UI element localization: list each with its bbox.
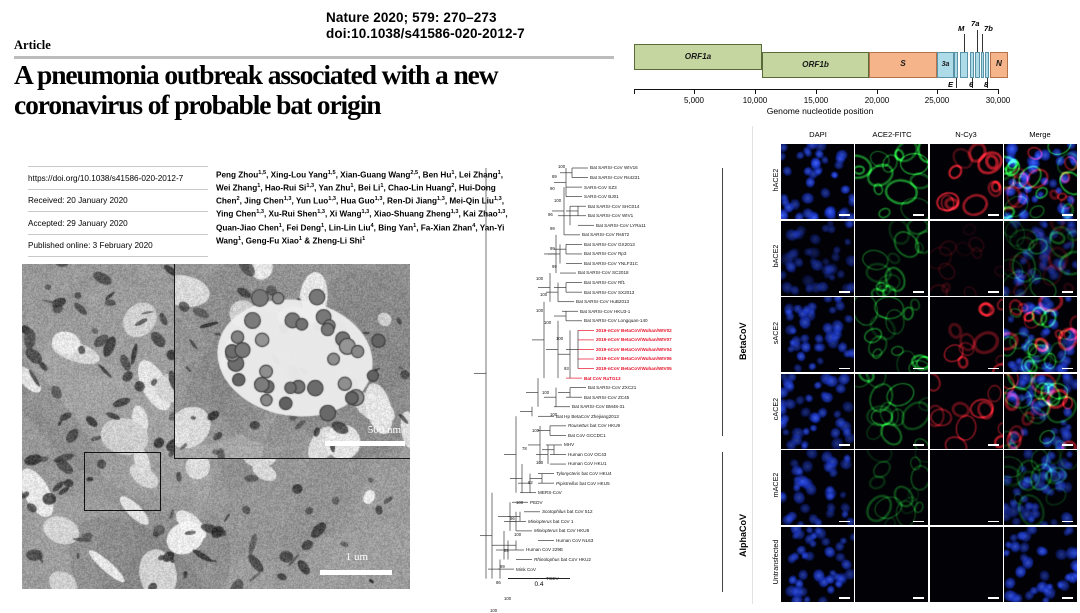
if-scalebar <box>913 368 924 370</box>
tree-bootstrap-value: 100 <box>554 198 561 203</box>
clade-bar-betacov <box>722 168 723 436</box>
tree-bootstrap-value: 100 <box>514 532 521 537</box>
if-image-cell <box>855 297 928 372</box>
if-scalebar <box>988 521 999 523</box>
tree-bootstrap-value: 99 <box>552 264 557 269</box>
tree-taxon-label: Bat SARSr-CoV SX2013 <box>584 290 634 295</box>
tree-bootstrap-value: 85 <box>504 548 509 553</box>
if-image-cell <box>855 450 928 525</box>
if-image-cell <box>1004 297 1077 372</box>
if-scalebar <box>988 291 999 293</box>
tree-bootstrap-value: 99 <box>550 246 555 251</box>
axis-tick <box>998 89 999 94</box>
phylogenetic-tree: Bat SARSr-CoV WIV16Bat SARSr-CoV Rs4231S… <box>470 160 750 605</box>
axis-tick <box>877 89 878 94</box>
gene-orf6 <box>970 52 974 78</box>
if-micrograph <box>1004 527 1077 602</box>
tree-bootstrap-value: 100 <box>536 460 543 465</box>
axis-tick <box>694 89 695 94</box>
gene-label-orf7a: 7a <box>971 19 979 28</box>
tree-bootstrap-value: 78 <box>522 446 527 451</box>
if-image-cell <box>1004 527 1077 602</box>
if-micrograph <box>855 374 928 449</box>
tree-bootstrap-value: 100 <box>550 412 557 417</box>
if-image-cell <box>855 144 928 219</box>
tree-taxon-label: Bat SARSr-CoV Rs672 <box>582 232 629 237</box>
tree-taxon-label: Mink CoV <box>516 567 536 572</box>
tree-taxon-label: 2019-nCoV BetaCoV/Wuhan/WIV05 <box>596 366 672 371</box>
if-image-cell <box>781 374 854 449</box>
metadata-published: Published online: 3 February 2020 <box>28 235 208 258</box>
if-scalebar <box>839 291 850 293</box>
if-column-header-merge: Merge <box>1003 130 1077 139</box>
gene-orf8 <box>985 52 989 78</box>
tree-taxon-label: Bat Hp BetaCoV Zhejiang2013 <box>556 414 619 419</box>
tree-bootstrap-value: 96 <box>548 212 553 217</box>
citation-line-1: Nature 2020; 579: 270–273 <box>326 10 525 26</box>
leader-line-7b <box>982 34 983 52</box>
tree-taxon-label: Bat SARSr-CoV ZC45 <box>584 395 629 400</box>
if-image-cell <box>1004 374 1077 449</box>
journal-citation: Nature 2020; 579: 270–273 doi:10.1038/s4… <box>326 10 525 42</box>
electron-micrograph: 500 nm 1 um <box>22 264 410 589</box>
if-scalebar <box>913 214 924 216</box>
if-micrograph <box>781 297 854 372</box>
gene-label-orf1a: ORF1a <box>634 53 762 61</box>
tree-taxon-label: Bat SARSr-CoV SHC014 <box>588 204 639 209</box>
if-scalebar <box>839 444 850 446</box>
if-scalebar <box>913 291 924 293</box>
if-image-cell <box>1004 450 1077 525</box>
if-scalebar <box>1062 444 1073 446</box>
immunofluorescence-panel: DAPI ACE2-FITC N-Cy3 Merge hACE2bACE2sAC… <box>752 126 1079 604</box>
tree-bootstrap-value: 89 <box>552 174 557 179</box>
tree-taxon-label: MHV <box>564 442 574 447</box>
gene-orf7a <box>975 52 980 78</box>
if-micrograph <box>781 374 854 449</box>
page-title: A pneumonia outbreak associated with a n… <box>14 60 614 120</box>
if-image-cell <box>781 221 854 296</box>
tree-taxon-label: SARS-CoV SZ3 <box>584 185 617 190</box>
if-image-cell <box>1004 221 1077 296</box>
clade-label-alphacov: AlphaCoV <box>738 514 748 557</box>
if-image-cell <box>930 527 1003 602</box>
tree-taxon-label: Miniopterus bat CoV HKU8 <box>534 528 589 533</box>
tree-taxon-label: Bat SARSr-CoV HKU3-1 <box>580 309 630 314</box>
if-row-label: sACE2 <box>771 297 780 369</box>
tree-bootstrap-value: 100 <box>490 608 497 613</box>
article-metadata: https://doi.org/10.1038/s41586-020-2012-… <box>28 166 208 257</box>
tree-scale-label: 0.4 <box>508 581 570 588</box>
genome-axis-caption: Genome nucleotide position <box>680 106 960 116</box>
leader-line-e <box>956 78 957 88</box>
tree-scale-bar <box>508 578 570 579</box>
if-column-header-dapi: DAPI <box>781 130 855 139</box>
if-row-label: bACE2 <box>771 220 780 292</box>
tree-taxon-label: 2019-nCoV BetaCoV/Wuhan/WIV06 <box>596 356 672 361</box>
tree-bootstrap-value: 93 <box>564 366 569 371</box>
if-scalebar <box>1062 597 1073 599</box>
tree-taxon-label: Rhinolophus bat CoV HKU2 <box>534 557 591 562</box>
tree-bootstrap-value: 100 <box>532 428 539 433</box>
tree-taxon-label: Bat SARSr-CoV WIV16 <box>590 165 638 170</box>
tree-bootstrap-value: 99 <box>500 564 505 569</box>
if-micrograph <box>1004 221 1077 296</box>
leader-line-7a <box>977 30 978 52</box>
leader-line-m <box>964 34 965 52</box>
tree-taxon-label: Pipistrellus bat CoV HKU5 <box>556 481 610 486</box>
if-scalebar <box>1062 521 1073 523</box>
tree-taxon-label: 2019-nCoV BetaCoV/Wuhan/WIV07 <box>596 337 672 342</box>
axis-tick-label: 10,000 <box>732 96 778 105</box>
if-micrograph <box>930 527 1003 602</box>
if-micrograph <box>855 450 928 525</box>
em-scalebar-label: 1 um <box>346 551 368 563</box>
axis-tick <box>937 89 938 94</box>
if-scalebar <box>988 368 999 370</box>
if-micrograph <box>930 297 1003 372</box>
tree-bootstrap-value: 90 <box>550 186 555 191</box>
tree-bootstrap-value: 100 <box>558 164 565 169</box>
if-image-cell <box>855 374 928 449</box>
gene-label-orf3a: 3a <box>937 61 954 68</box>
tree-taxon-label: 2019-nCoV BetaCoV/Wuhan/WIV04 <box>596 347 672 352</box>
citation-line-2: doi:10.1038/s41586-020-2012-7 <box>326 26 525 42</box>
if-micrograph <box>930 144 1003 219</box>
inset-scalebar-label: 500 nm <box>368 424 401 436</box>
if-micrograph <box>781 221 854 296</box>
tree-taxon-label: Bat SARSr-CoV Rs4231 <box>590 175 640 180</box>
tree-taxon-label: Bat SARSr-CoV Rp3 <box>584 251 626 256</box>
if-micrograph <box>930 374 1003 449</box>
if-row-label: mACE2 <box>771 449 780 521</box>
tree-taxon-label: Tylonycteris bat CoV HKU4 <box>556 471 612 476</box>
tree-taxon-label: Bat SARSr-CoV HuB2013 <box>576 299 629 304</box>
tree-taxon-label: 2019-nCoV BetaCoV/Wuhan/WIV02 <box>596 328 672 333</box>
if-scalebar <box>913 444 924 446</box>
gene-label-orf7b: 7b <box>984 24 993 33</box>
tree-bootstrap-value: 96 <box>510 516 515 521</box>
tree-bootstrap-value: 99 <box>550 226 555 231</box>
tree-taxon-label: Bat SARSr-CoV ZXC21 <box>588 385 636 390</box>
if-scalebar <box>1062 214 1073 216</box>
tree-taxon-label: Bat SARSr-CoV YNLF31C <box>584 261 638 266</box>
if-micrograph <box>855 221 928 296</box>
if-row-label: hACE2 <box>771 144 780 216</box>
if-column-header-n-cy3: N-Cy3 <box>929 130 1003 139</box>
gene-membrane <box>960 52 968 78</box>
axis-tick-label: 30,000 <box>975 96 1021 105</box>
metadata-received: Received: 20 January 2020 <box>28 190 208 213</box>
axis-tick-label: 20,000 <box>854 96 900 105</box>
tree-taxon-label: Rousettus bat CoV HKU9 <box>568 423 620 428</box>
axis-tick-label: 25,000 <box>914 96 960 105</box>
tree-taxon-label: Bat SARSr-CoV SC2018 <box>578 270 629 275</box>
metadata-accepted: Accepted: 29 January 2020 <box>28 212 208 235</box>
if-micrograph <box>930 221 1003 296</box>
inset-scalebar <box>325 441 405 446</box>
tree-taxon-label: Human CoV HKU1 <box>568 461 607 466</box>
genome-organization-diagram: ORF1a ORF1b S 3a N M 7a 7b E 6 8 5,000 1… <box>624 14 1076 114</box>
if-image-cell <box>781 144 854 219</box>
if-scalebar <box>913 521 924 523</box>
if-scalebar <box>839 521 850 523</box>
if-micrograph <box>930 450 1003 525</box>
if-micrograph <box>855 297 928 372</box>
if-image-cell <box>930 297 1003 372</box>
if-micrograph <box>1004 374 1077 449</box>
if-micrograph <box>1004 450 1077 525</box>
if-scalebar <box>1062 291 1073 293</box>
tree-bootstrap-value: 100 <box>544 320 551 325</box>
gene-label-orf1b: ORF1b <box>762 61 869 69</box>
if-micrograph <box>781 527 854 602</box>
tree-bootstrap-value: 100 <box>556 336 563 341</box>
clade-bar-alphacov <box>722 452 723 592</box>
axis-tick <box>816 89 817 94</box>
tree-taxon-label: Bat SARSr-CoV Rf1 <box>584 280 625 285</box>
tree-taxon-label: Bat SARSr-CoV BM48-31 <box>572 404 625 409</box>
tree-bootstrap-value: 100 <box>504 596 511 601</box>
clade-label-betacov: BetaCoV <box>738 322 748 360</box>
if-row-label: Untransfected <box>771 526 780 598</box>
tree-bootstrap-value: 92 <box>528 480 533 485</box>
if-scalebar <box>839 368 850 370</box>
if-image-cell <box>855 221 928 296</box>
tree-taxon-label: Bat SARSr-CoV GX2013 <box>584 242 635 247</box>
tree-bootstrap-value: 100 <box>536 308 543 313</box>
gene-envelope <box>954 52 958 78</box>
gene-label-membrane: M <box>958 24 964 33</box>
tree-bootstrap-value: 100 <box>542 390 549 395</box>
if-row-label: cACE2 <box>771 373 780 445</box>
if-micrograph <box>781 144 854 219</box>
if-column-headers: DAPI ACE2-FITC N-Cy3 Merge <box>781 130 1077 144</box>
if-scalebar <box>839 214 850 216</box>
if-scalebar <box>988 597 999 599</box>
tree-taxon-label: MERS-CoV <box>538 490 562 495</box>
if-scalebar <box>1062 368 1073 370</box>
em-region-of-interest-box <box>84 452 161 511</box>
if-micrograph <box>855 527 928 602</box>
if-micrograph <box>1004 297 1077 372</box>
if-image-cell <box>781 527 854 602</box>
tree-bootstrap-value: 100 <box>516 500 523 505</box>
gene-label-nucleocapsid: N <box>990 60 1008 68</box>
gene-label-envelope: E <box>948 80 953 89</box>
gene-label-orf6: 6 <box>969 80 973 89</box>
em-inset-panel: 500 nm <box>174 264 410 459</box>
tree-taxon-label: Bat CoV GCCDC1 <box>568 433 606 438</box>
if-scalebar <box>988 214 999 216</box>
if-image-cell <box>930 374 1003 449</box>
tree-taxon-label: Bat SARSr-CoV Longquan-140 <box>584 318 648 323</box>
if-image-grid <box>781 144 1077 602</box>
article-kicker: Article <box>14 38 51 53</box>
axis-tick-label: 5,000 <box>671 96 717 105</box>
if-image-cell <box>855 527 928 602</box>
if-image-cell <box>781 450 854 525</box>
gene-label-spike: S <box>869 60 937 68</box>
if-micrograph <box>1004 144 1077 219</box>
if-column-header-ace2-fitc: ACE2-FITC <box>855 130 929 139</box>
if-image-cell <box>930 450 1003 525</box>
axis-tick <box>634 89 635 94</box>
metadata-doi: https://doi.org/10.1038/s41586-020-2012-… <box>28 166 208 190</box>
tree-bootstrap-value: 86 <box>496 580 501 585</box>
tree-taxon-label: Bat CoV RaTG13 <box>584 376 621 381</box>
tree-taxon-label: SARS-CoV BJ01 <box>584 194 619 199</box>
tree-taxon-label: PEDV <box>530 500 543 505</box>
gene-label-orf8: 8 <box>984 80 988 89</box>
if-image-cell <box>781 297 854 372</box>
axis-tick-label: 15,000 <box>793 96 839 105</box>
tree-taxon-label: Bat SARSr-CoV LYRa11 <box>596 223 646 228</box>
tree-taxon-label: Scotophilus bat CoV 512 <box>542 509 593 514</box>
tree-bootstrap-value: 100 <box>536 276 543 281</box>
em-scalebar <box>320 570 392 575</box>
if-scalebar <box>839 597 850 599</box>
if-scalebar <box>913 597 924 599</box>
tree-taxon-label: Human CoV OC43 <box>568 452 606 457</box>
tree-taxon-label: Miniopterus bat CoV 1 <box>528 519 573 524</box>
if-scalebar <box>988 444 999 446</box>
if-micrograph <box>781 450 854 525</box>
tree-bootstrap-value: 100 <box>540 292 547 297</box>
if-image-cell <box>930 144 1003 219</box>
if-image-cell <box>1004 144 1077 219</box>
axis-tick <box>755 89 756 94</box>
if-image-cell <box>930 221 1003 296</box>
tree-taxon-label: Bat SARSr-CoV WIV1 <box>588 213 633 218</box>
tree-taxon-label: Human CoV 229E <box>526 547 563 552</box>
if-micrograph <box>855 144 928 219</box>
gene-orf7b <box>981 52 984 78</box>
tree-taxon-label: Human CoV NL63 <box>556 538 593 543</box>
